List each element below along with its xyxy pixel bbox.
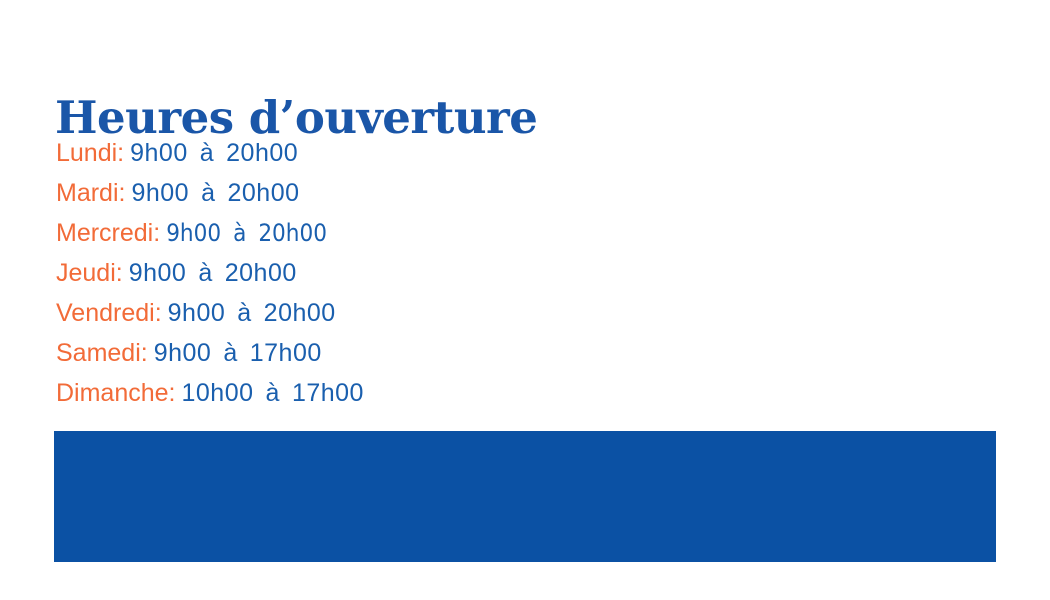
day-label: Dimanche: — [56, 379, 176, 407]
time-separator: à — [260, 373, 286, 413]
media-placeholder-block — [54, 431, 996, 562]
open-time: 10h00 — [182, 379, 254, 407]
list-item: Vendredi:9h00à20h00 — [56, 293, 656, 333]
list-item: Dimanche:10h00à17h00 — [56, 373, 656, 413]
close-time: 17h00 — [250, 339, 322, 367]
time-separator: à — [192, 253, 218, 293]
slide-canvas: Heures d’ouverture Lundi:9h00à20h00 Mard… — [0, 0, 1050, 600]
list-item: Mardi:9h00à20h00 — [56, 173, 656, 213]
day-label: Jeudi: — [56, 259, 123, 287]
close-time: 20h00 — [225, 259, 297, 287]
day-label: Mardi: — [56, 179, 125, 207]
day-label: Samedi: — [56, 339, 148, 367]
day-label: Vendredi: — [56, 299, 162, 327]
close-time: 17h00 — [292, 379, 364, 407]
time-separator: à — [194, 133, 220, 173]
close-time: 20h00 — [264, 299, 336, 327]
close-time: 20h00 — [228, 179, 300, 207]
time-separator: à — [231, 293, 257, 333]
list-item: Lundi:9h00à20h00 — [56, 133, 656, 173]
list-item: Mercredi:9h00à20h00 — [56, 213, 656, 253]
open-time: 9h00 — [166, 219, 221, 247]
close-time: 20h00 — [226, 139, 298, 167]
list-item: Jeudi:9h00à20h00 — [56, 253, 656, 293]
close-time: 20h00 — [258, 219, 327, 247]
time-separator: à — [195, 173, 221, 213]
open-time: 9h00 — [131, 179, 189, 207]
open-time: 9h00 — [168, 299, 226, 327]
list-item: Samedi:9h00à17h00 — [56, 333, 656, 373]
time-separator: à — [227, 213, 252, 253]
opening-hours-list: Lundi:9h00à20h00 Mardi:9h00à20h00 Mercre… — [56, 133, 656, 413]
open-time: 9h00 — [130, 139, 188, 167]
day-label: Lundi: — [56, 139, 124, 167]
time-separator: à — [217, 333, 243, 373]
open-time: 9h00 — [154, 339, 212, 367]
open-time: 9h00 — [129, 259, 187, 287]
day-label: Mercredi: — [56, 219, 160, 247]
